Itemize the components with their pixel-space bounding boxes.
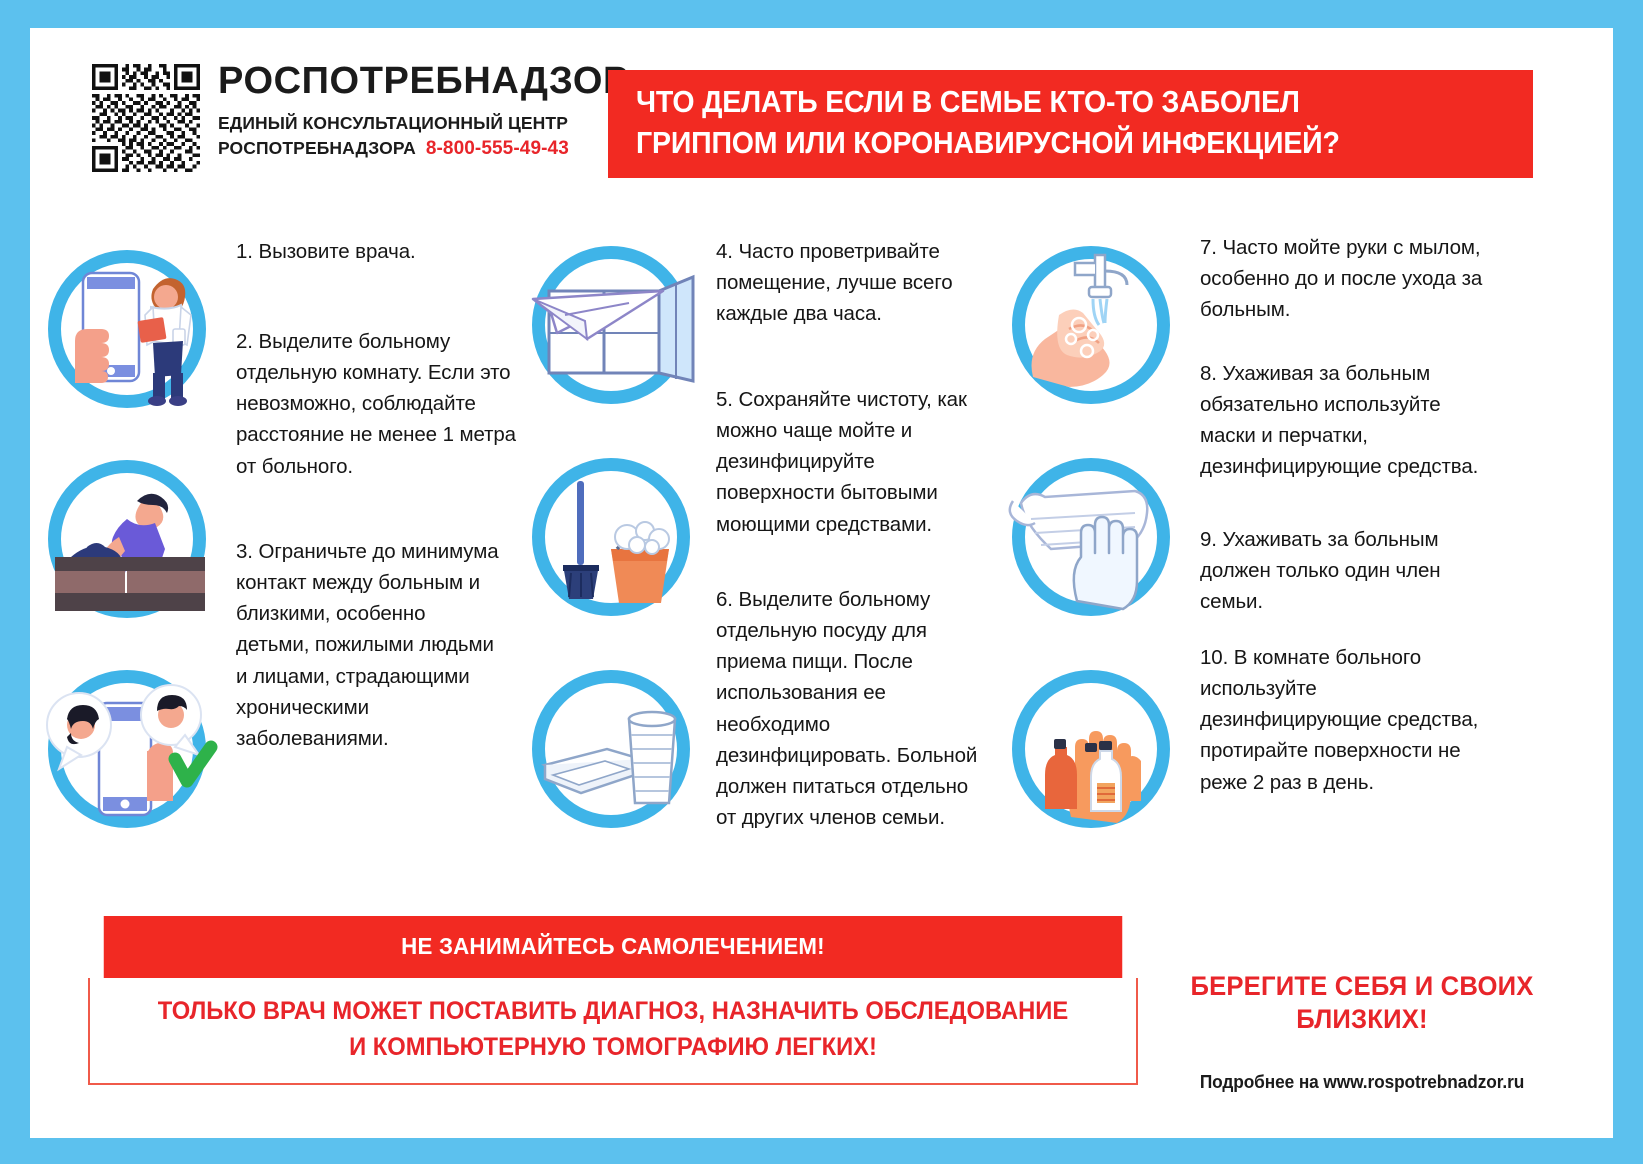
step-7-text: 7. Часто мойте руки с мылом, особенно до… bbox=[1200, 232, 1490, 325]
brand-title: РОСПОТРЕБНАДЗОР bbox=[218, 62, 629, 100]
qr-code-icon bbox=[92, 64, 200, 172]
step-8-text: 8. Ухаживая за больным обязательно испол… bbox=[1200, 358, 1485, 483]
headline-line-1: ЧТО ДЕЛАТЬ ЕСЛИ В СЕМЬЕ КТО-ТО ЗАБОЛЕЛ bbox=[636, 82, 1461, 123]
step-10-text: 10. В комнате больного используйте дезин… bbox=[1200, 642, 1482, 798]
step-9-text: 9. Ухаживать за больным должен только од… bbox=[1200, 524, 1482, 617]
doctor-only-banner: ТОЛЬКО ВРАЧ МОЖЕТ ПОСТАВИТЬ ДИАГНОЗ, НАЗ… bbox=[88, 978, 1138, 1085]
no-self-medication-banner: НЕ ЗАНИМАЙТЕСЬ САМОЛЕЧЕНИЕМ! bbox=[104, 916, 1123, 978]
step-2-text: 2. Выделите больному отдельную комнату. … bbox=[236, 326, 516, 482]
mop-and-bucket-icon bbox=[532, 458, 690, 616]
hotline-phone[interactable]: 8-800-555-49-43 bbox=[426, 136, 569, 162]
step-6-text: 6. Выделите больному отдельную посуду дл… bbox=[716, 584, 991, 833]
step-8-icon-wrap bbox=[1012, 458, 1170, 616]
doctor-only-line-2: И КОМПЬЮТЕРНУЮ ТОМОГРАФИЮ ЛЕГКИХ! bbox=[126, 1030, 1101, 1066]
doctor-only-line-1: ТОЛЬКО ВРАЧ МОЖЕТ ПОСТАВИТЬ ДИАГНОЗ, НАЗ… bbox=[126, 994, 1101, 1030]
headline-line-2: ГРИППОМ ИЛИ КОРОНАВИРУСНОЙ ИНФЕКЦИЕЙ? bbox=[636, 123, 1461, 164]
warning-block: НЕ ЗАНИМАЙТЕСЬ САМОЛЕЧЕНИЕМ! ТОЛЬКО ВРАЧ… bbox=[88, 916, 1138, 1085]
disinfectant-bottles-icon bbox=[1012, 670, 1170, 828]
step-1-icon-wrap bbox=[48, 250, 206, 408]
brand-subtitle-line1: ЕДИНЫЙ КОНСУЛЬТАЦИОННЫЙ ЦЕНТР bbox=[218, 112, 629, 136]
poster-frame: РОСПОТРЕБНАДЗОР ЕДИНЫЙ КОНСУЛЬТАЦИОННЫЙ … bbox=[0, 0, 1643, 1164]
step-5-text: 5. Сохраняйте чистоту, как можно чаще мо… bbox=[716, 384, 984, 540]
brand-subtitle-line2: РОСПОТРЕБНАДЗОРА bbox=[218, 137, 416, 161]
brand-text: РОСПОТРЕБНАДЗОР ЕДИНЫЙ КОНСУЛЬТАЦИОННЫЙ … bbox=[218, 60, 629, 161]
steps-column-2: 4. Часто проветривайте помещение, лучше … bbox=[530, 218, 1000, 818]
step-6-icon-wrap bbox=[532, 670, 690, 828]
website-link[interactable]: Подробнее на www.rospotrebnadzor.ru bbox=[1175, 1072, 1549, 1093]
step-4-text: 4. Часто проветривайте помещение, лучше … bbox=[716, 236, 984, 329]
step-10-icon-wrap bbox=[1012, 670, 1170, 828]
handwashing-tap-icon bbox=[1012, 246, 1170, 404]
brand-block: РОСПОТРЕБНАДЗОР ЕДИНЫЙ КОНСУЛЬТАЦИОННЫЙ … bbox=[92, 60, 629, 172]
separate-dishes-icon bbox=[532, 670, 690, 828]
steps-column-3: 7. Часто мойте руки с мылом, особенно до… bbox=[1000, 218, 1500, 818]
brand-subtitle-row2: РОСПОТРЕБНАДЗОРА 8-800-555-49-43 bbox=[218, 136, 629, 162]
poster-header: РОСПОТРЕБНАДЗОР ЕДИНЫЙ КОНСУЛЬТАЦИОННЫЙ … bbox=[30, 28, 1613, 213]
step-3-text: 3. Ограничьте до минимума контакт между … bbox=[236, 536, 504, 754]
step-5-icon-wrap bbox=[532, 458, 690, 616]
person-resting-on-sofa-icon bbox=[48, 460, 206, 618]
poster-footer: НЕ ЗАНИМАЙТЕСЬ САМОЛЕЧЕНИЕМ! ТОЛЬКО ВРАЧ… bbox=[30, 908, 1613, 1138]
mask-and-gloves-icon bbox=[1012, 458, 1170, 616]
care-line-2: БЛИЗКИХ! bbox=[1177, 1003, 1548, 1036]
steps-column-1: 1. Вызовите врача. 2. Выделите больному … bbox=[30, 218, 530, 818]
step-4-icon-wrap bbox=[532, 246, 690, 404]
poster-sheet: РОСПОТРЕБНАДЗОР ЕДИНЫЙ КОНСУЛЬТАЦИОННЫЙ … bbox=[30, 28, 1613, 1138]
step-7-icon-wrap bbox=[1012, 246, 1170, 404]
step-3-icon-wrap bbox=[48, 670, 206, 828]
video-call-phone-icon bbox=[48, 670, 206, 828]
care-block: БЕРЕГИТЕ СЕБЯ И СВОИХ БЛИЗКИХ! Подробнее… bbox=[1167, 970, 1557, 1093]
care-line-1: БЕРЕГИТЕ СЕБЯ И СВОИХ bbox=[1177, 970, 1548, 1003]
open-window-ventilation-icon bbox=[532, 246, 690, 404]
doctor-phone-call-icon bbox=[48, 250, 206, 408]
steps-area: 1. Вызовите врача. 2. Выделите больному … bbox=[30, 218, 1613, 818]
step-2-icon-wrap bbox=[48, 460, 206, 618]
step-1-text: 1. Вызовите врача. bbox=[236, 236, 511, 267]
headline-banner: ЧТО ДЕЛАТЬ ЕСЛИ В СЕМЬЕ КТО-ТО ЗАБОЛЕЛ Г… bbox=[608, 70, 1533, 178]
